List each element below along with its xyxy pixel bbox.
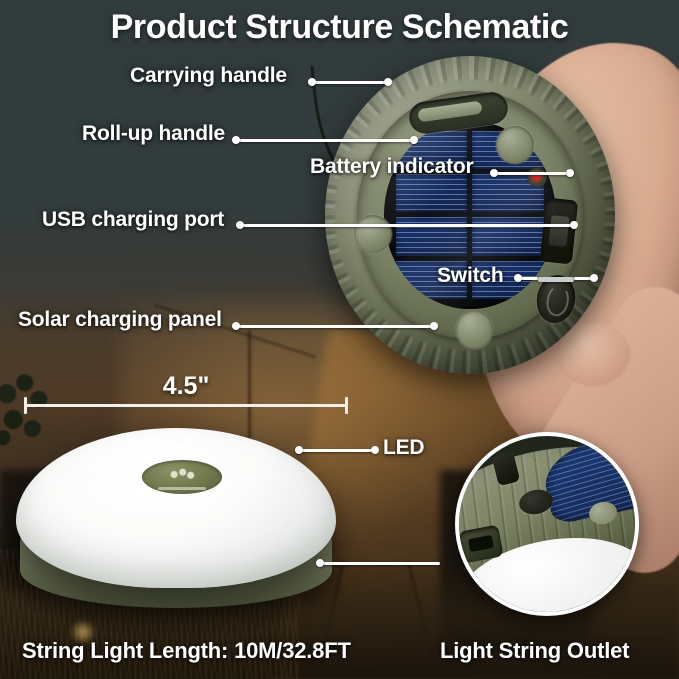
- caption-light-string-outlet: Light String Outlet: [440, 638, 629, 664]
- brand-logo-badge: [142, 460, 222, 494]
- leader-dot-start-switch: [514, 274, 522, 282]
- leader-dot-start-battery-indicator: [490, 169, 498, 177]
- callout-label-led: LED: [383, 436, 424, 460]
- callout-label-battery-indicator: Battery indicator: [310, 155, 473, 179]
- leader-dot-end-solar-panel: [430, 322, 438, 330]
- battery-indicator-led: [527, 167, 547, 187]
- leader-line-led-secondary: [320, 562, 440, 565]
- dimension-value: 4.5": [0, 372, 372, 401]
- leader-line-roll-up-handle: [236, 139, 416, 142]
- leader-dot-end-usb-charging-port: [570, 221, 578, 229]
- leader-dot-end-switch: [590, 274, 598, 282]
- leader-line-battery-indicator: [494, 172, 572, 175]
- leader-line-switch-b: [538, 277, 574, 282]
- leader-line-solar-panel: [236, 325, 436, 328]
- caption-string-light-length: String Light Length: 10M/32.8FT: [22, 638, 351, 664]
- dimension-cap-right: [345, 397, 348, 414]
- leader-dot-end-battery-indicator: [566, 169, 574, 177]
- leader-dot-led-secondary: [316, 559, 324, 567]
- led-diffuser-dome: [16, 428, 336, 588]
- dimension-cap-left: [24, 397, 27, 414]
- logo-subtext-bar: [158, 487, 206, 490]
- callout-label-carrying-handle: Carrying handle: [130, 64, 287, 88]
- leader-dot-start-usb-charging-port: [236, 221, 244, 229]
- lantern-led-dome-view: [8, 418, 344, 618]
- callout-label-solar-panel: Solar charging panel: [18, 308, 222, 332]
- callout-label-usb-charging-port: USB charging port: [42, 208, 224, 232]
- leader-dot-start-carrying-handle: [308, 78, 316, 86]
- page-title: Product Structure Schematic: [0, 8, 679, 47]
- leader-line-usb-charging-port: [240, 224, 575, 227]
- bezel-lens-1: [496, 126, 534, 164]
- leader-dot-start-led: [295, 446, 303, 454]
- callout-label-switch: Switch: [437, 264, 503, 288]
- leader-dot-end-roll-up-handle: [410, 136, 418, 144]
- logo-mark-icon: [164, 468, 200, 481]
- dimension-line: [24, 404, 348, 407]
- bezel-lens-2: [354, 215, 392, 253]
- bezel-lens-3: [456, 310, 494, 348]
- inset-detail-light-string-outlet: [455, 432, 639, 616]
- leader-dot-start-roll-up-handle: [232, 136, 240, 144]
- leader-dot-start-solar-panel: [232, 322, 240, 330]
- leader-line-led: [299, 449, 377, 452]
- infographic-canvas: Product Structure Schematic Carrying han…: [0, 0, 679, 679]
- leader-dot-end-led: [371, 446, 379, 454]
- leader-line-carrying-handle: [312, 81, 390, 84]
- leader-dot-end-carrying-handle: [384, 78, 392, 86]
- callout-label-roll-up-handle: Roll-up handle: [82, 122, 225, 146]
- usb-charging-port[interactable]: [539, 198, 577, 265]
